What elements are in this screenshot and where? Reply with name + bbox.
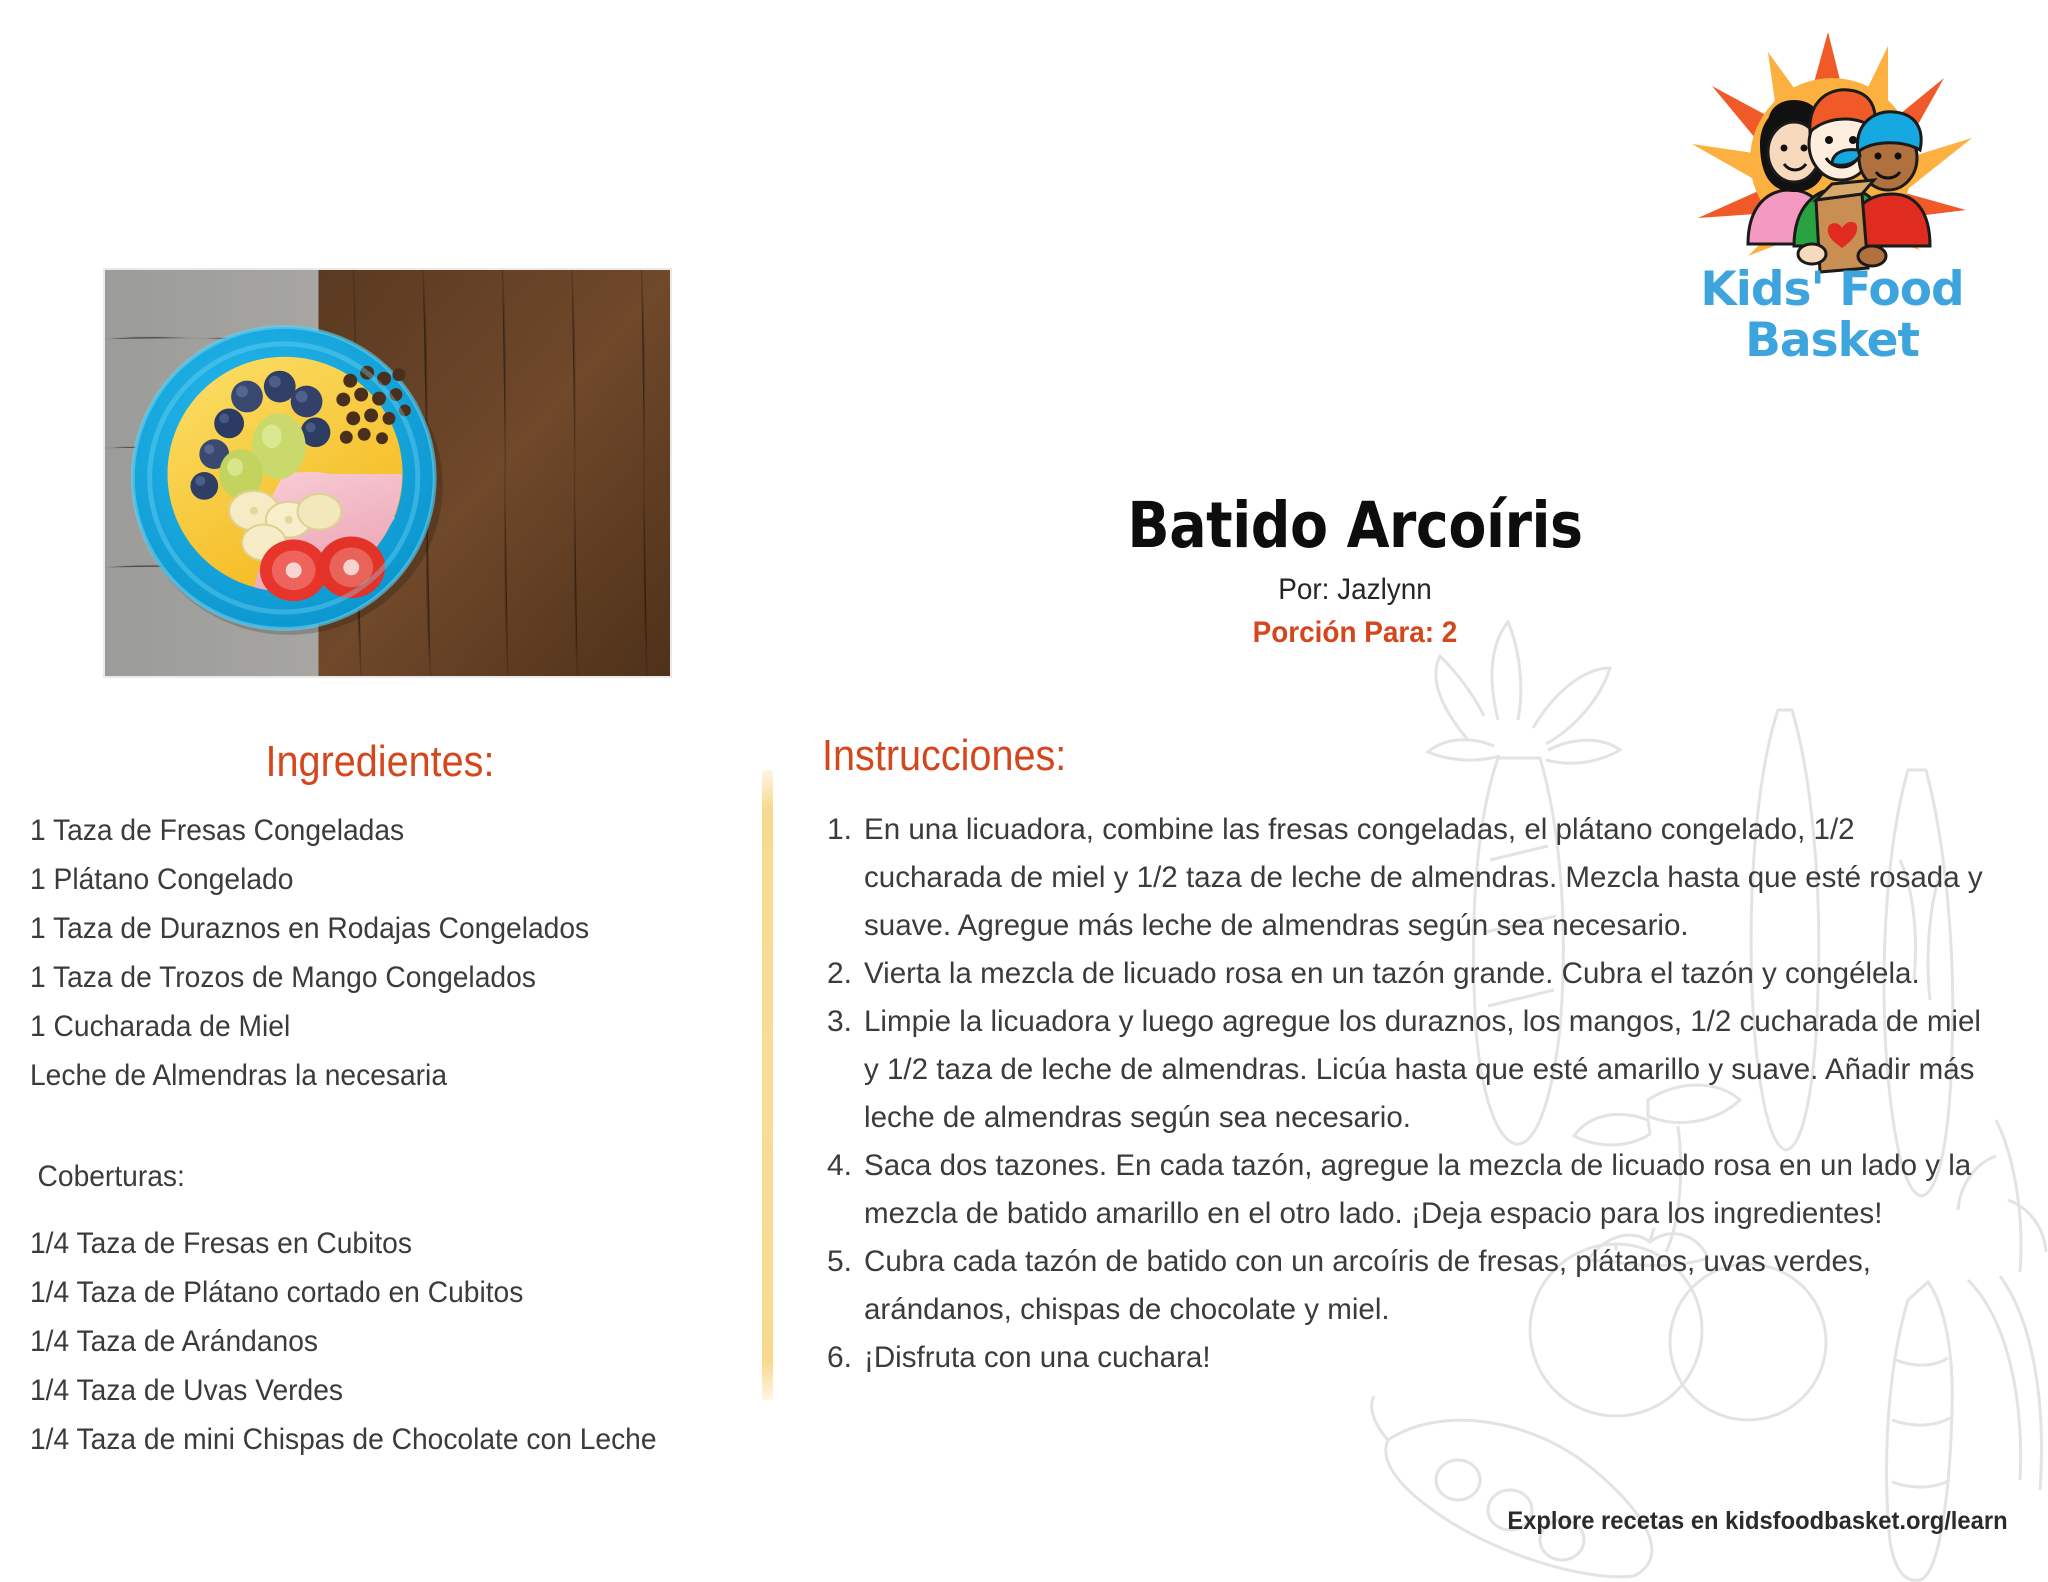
step-text: Vierta la mezcla de licuado rosa en un t… (864, 950, 1995, 998)
smoothie-bowl-photo-image (105, 270, 670, 676)
toppings-list: 1/4 Taza de Fresas en Cubitos 1/4 Taza d… (30, 1219, 730, 1464)
toppings-block: Coberturas: 1/4 Taza de Fresas en Cubito… (30, 1152, 730, 1464)
step-text: Cubra cada tazón de batido con un arcoír… (864, 1238, 1995, 1334)
ingredient-item: 1 Taza de Trozos de Mango Congelados (30, 953, 688, 1002)
instructions-list: 1. En una licuadora, combine las fresas … (822, 806, 2012, 1382)
step-number: 2. (822, 950, 864, 998)
step-number: 3. (822, 998, 864, 1142)
sun-children-logo-icon (1682, 32, 1982, 277)
instruction-step: 1. En una licuadora, combine las fresas … (822, 806, 2012, 950)
instructions-heading: Instrucciones: (822, 730, 1893, 782)
ingredients-list: 1 Taza de Fresas Congeladas 1 Plátano Co… (30, 806, 730, 1100)
ingredient-item: 1 Plátano Congelado (30, 855, 688, 904)
ingredient-item: 1 Taza de Fresas Congeladas (30, 806, 688, 855)
logo-wordmark: Kids' Food Basket (1682, 264, 1982, 366)
step-text: Limpie la licuadora y luego agregue los … (864, 998, 1995, 1142)
instruction-step: 6. ¡Disfruta con una cuchara! (822, 1334, 2012, 1382)
instruction-step: 3. Limpie la licuadora y luego agregue l… (822, 998, 2012, 1142)
step-number: 5. (822, 1238, 864, 1334)
ingredient-item: 1 Cucharada de Miel (30, 1002, 688, 1051)
step-text: Saca dos tazones. En cada tazón, agregue… (864, 1142, 1995, 1238)
ingredient-item: 1 Taza de Duraznos en Rodajas Congelados (30, 904, 688, 953)
recipe-author: Por: Jazlynn (802, 572, 1909, 608)
instruction-step: 2. Vierta la mezcla de licuado rosa en u… (822, 950, 2012, 998)
step-text: En una licuadora, combine las fresas con… (864, 806, 1995, 950)
step-text: ¡Disfruta con una cuchara! (864, 1334, 1995, 1382)
step-number: 1. (822, 806, 864, 950)
recipe-card: Kids' Food Basket (0, 0, 2048, 1582)
title-block: Batido Arcoíris Por: Jazlynn Porción Par… (760, 490, 1950, 651)
kids-food-basket-logo: Kids' Food Basket (1682, 32, 1982, 372)
instruction-step: 4. Saca dos tazones. En cada tazón, agre… (822, 1142, 2012, 1238)
step-number: 4. (822, 1142, 864, 1238)
instruction-step: 5. Cubra cada tazón de batido con un arc… (822, 1238, 2012, 1334)
recipe-photo (103, 268, 672, 678)
toppings-label: Coberturas: (30, 1152, 688, 1201)
step-number: 6. (822, 1334, 864, 1382)
topping-item: 1/4 Taza de Fresas en Cubitos (30, 1219, 688, 1268)
ingredients-section: Ingredientes: 1 Taza de Fresas Congelada… (30, 736, 730, 1464)
footer-note: Explore recetas en kidsfoodbasket.org/le… (1508, 1506, 2008, 1536)
topping-item: 1/4 Taza de Plátano cortado en Cubitos (30, 1268, 688, 1317)
topping-item: 1/4 Taza de Arándanos (30, 1317, 688, 1366)
topping-item: 1/4 Taza de Uvas Verdes (30, 1366, 688, 1415)
recipe-title: Batido Arcoíris (831, 490, 1878, 562)
column-divider (762, 770, 773, 1400)
ingredients-heading: Ingredientes: (65, 736, 695, 788)
logo-wordmark-line1: Kids' Food (1682, 264, 1982, 315)
ingredient-item: Leche de Almendras la necesaria (30, 1051, 688, 1100)
topping-item: 1/4 Taza de mini Chispas de Chocolate co… (30, 1415, 688, 1464)
instructions-section: Instrucciones: 1. En una licuadora, comb… (822, 730, 2012, 1382)
recipe-servings: Porción Para: 2 (802, 615, 1909, 651)
logo-wordmark-line2: Basket (1682, 315, 1982, 366)
